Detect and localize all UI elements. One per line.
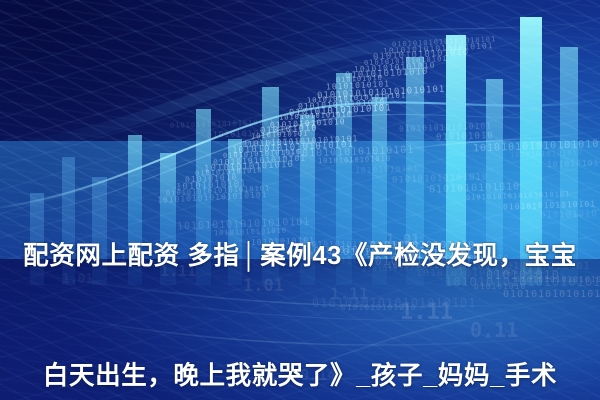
headline-line-2: 白天出生，晚上我就哭了》_孩子_妈妈_手术	[0, 356, 600, 396]
headline-line1-part2: 案例43《产检没发现，宝宝	[260, 242, 577, 270]
headline-line1-part1: 配资网上配资 多指	[23, 242, 240, 270]
headline-separator: │	[240, 242, 261, 270]
headline-line-1: 配资网上配资 多指│案例43《产检没发现，宝宝	[0, 236, 600, 276]
headline-text: 配资网上配资 多指│案例43《产检没发现，宝宝 白天出生，晚上我就哭了》_孩子_…	[0, 156, 600, 400]
banner-image: 0101010101010101010110101010101010101010…	[0, 0, 600, 400]
